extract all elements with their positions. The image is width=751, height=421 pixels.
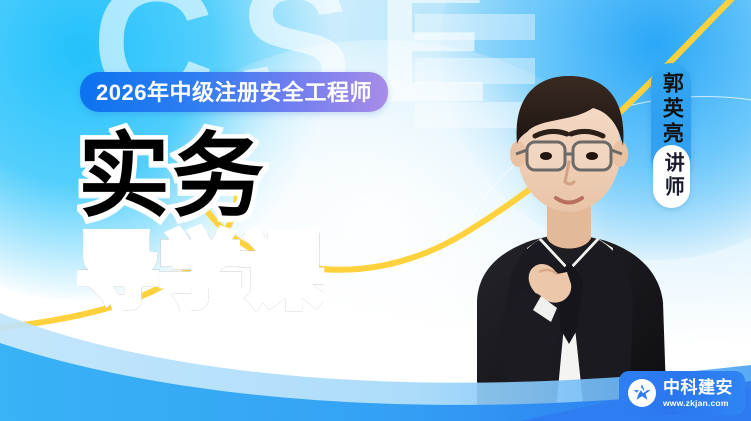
kicker-label: 2026年中级注册安全工程师 [96,75,372,107]
logo-url: www.zkjan.com [663,399,733,408]
headline-line-1: 实务 [78,134,324,221]
headline-line-2: 导学课 [78,233,324,311]
instructor-role: 讲师 [661,152,683,200]
logo-text: 中科建安 www.zkjan.com [663,379,733,408]
instructor-role-pill: 讲师 [653,145,690,208]
course-promo-banner: CSE [0,0,751,421]
brand-logo[interactable]: 中科建安 www.zkjan.com [619,371,745,415]
instructor-name: 郭英亮 [660,72,683,147]
headline-block: 实务 导学课 [78,134,324,312]
logo-brand-name: 中科建安 [663,379,733,396]
logo-star-arrow-icon [628,379,656,407]
course-kicker-badge: 2026年中级注册安全工程师 [80,72,388,112]
